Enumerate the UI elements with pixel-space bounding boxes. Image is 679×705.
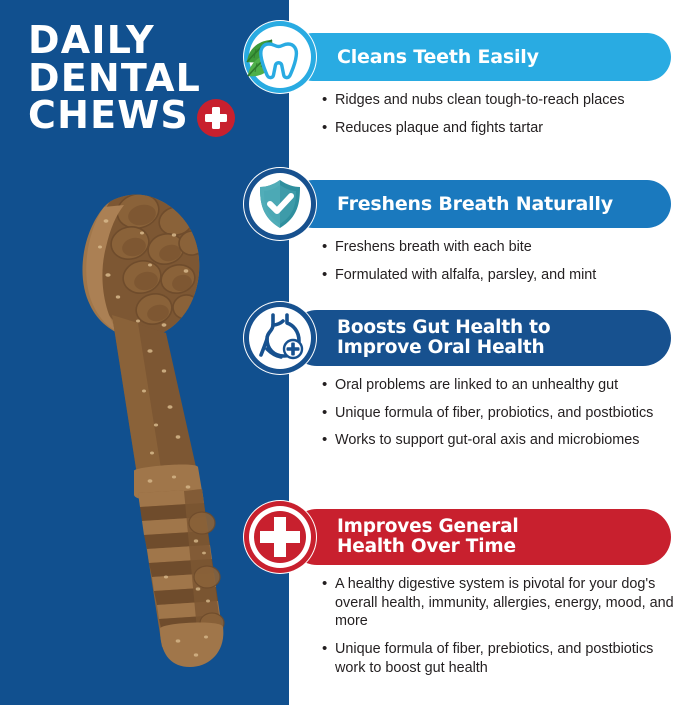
benefits-column: Cleans Teeth Easily Ridges and nubs clea…	[289, 0, 679, 705]
benefit-bullets-boosts-gut-health: Oral problems are linked to an unhealthy…	[322, 376, 674, 459]
benefit-pill-boosts-gut-health[interactable]: Boosts Gut Health to Improve Oral Health	[289, 310, 671, 366]
benefit-pill-freshens-breath[interactable]: Freshens Breath Naturally	[289, 180, 671, 228]
chew-head	[82, 189, 207, 339]
list-item: Oral problems are linked to an unhealthy…	[322, 376, 674, 395]
benefit-pill-improves-general-health[interactable]: Improves General Health Over Time	[289, 509, 671, 565]
brand-line-3: CHEWS	[28, 97, 189, 135]
list-item: Formulated with alfalfa, parsley, and mi…	[322, 266, 674, 285]
benefit-bullets-freshens-breath: Freshens breath with each bite Formulate…	[322, 238, 674, 293]
chew-bottom-cap	[160, 623, 223, 667]
benefit-title-freshens-breath: Freshens Breath Naturally	[289, 194, 627, 214]
benefit-title-cleans-teeth: Cleans Teeth Easily	[289, 47, 553, 67]
benefit-title-boosts-gut-health: Boosts Gut Health to Improve Oral Health	[289, 318, 564, 359]
list-item: Unique formula of fiber, prebiotics, and…	[322, 640, 674, 677]
benefit-bullets-improves-general-health: A healthy digestive system is pivotal fo…	[322, 575, 674, 687]
chew-shaft	[112, 315, 196, 481]
list-item: Unique formula of fiber, probiotics, and…	[322, 404, 674, 423]
list-item: Ridges and nubs clean tough-to-reach pla…	[322, 91, 674, 110]
page-title: DAILY DENTAL CHEWS	[28, 22, 268, 135]
infographic-root: DAILY DENTAL CHEWS	[0, 0, 679, 705]
dog-dental-chew-toy-illustration	[46, 185, 256, 690]
benefit-pill-cleans-teeth[interactable]: Cleans Teeth Easily	[289, 33, 671, 81]
brand-line-2: DENTAL	[28, 60, 268, 98]
medical-cross-circle-icon	[243, 500, 317, 574]
brand-line-1: DAILY	[28, 22, 268, 60]
list-item: A healthy digestive system is pivotal fo…	[322, 575, 674, 631]
list-item: Reduces plaque and fights tartar	[322, 119, 674, 138]
medical-cross-icon	[197, 99, 235, 137]
shield-check-icon	[243, 167, 317, 241]
list-item: Works to support gut-oral axis and micro…	[322, 431, 674, 450]
benefit-title-improves-general-health: Improves General Health Over Time	[289, 517, 533, 558]
list-item: Freshens breath with each bite	[322, 238, 674, 257]
tooth-with-mint-leaf-icon	[243, 20, 317, 94]
benefit-bullets-cleans-teeth: Ridges and nubs clean tough-to-reach pla…	[322, 91, 674, 146]
stomach-plus-icon	[243, 301, 317, 375]
